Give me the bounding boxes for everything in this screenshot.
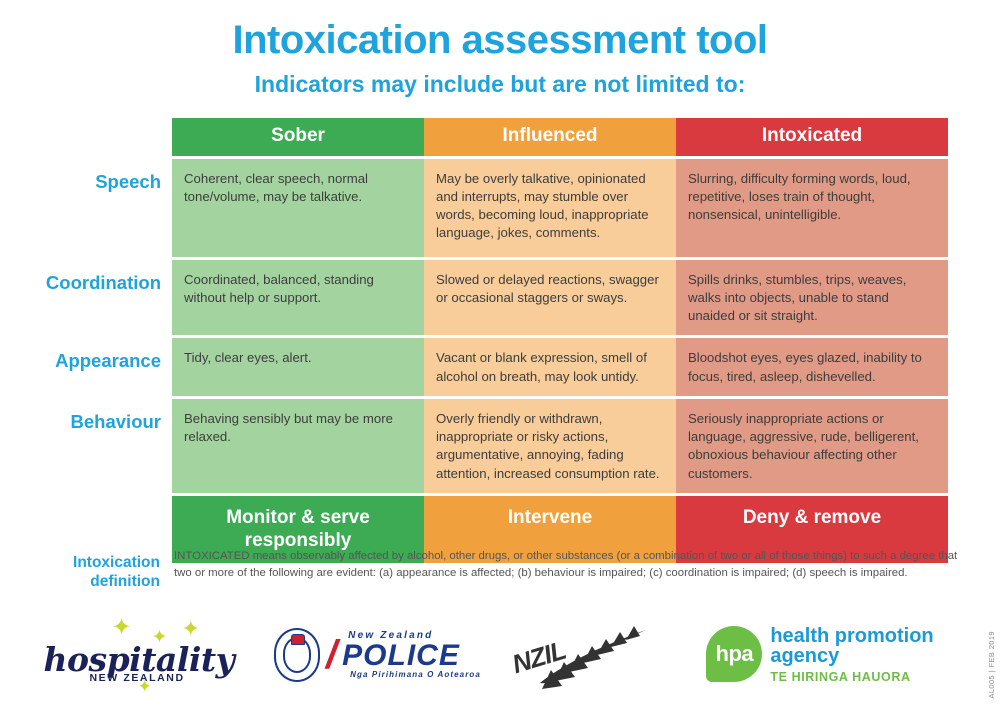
cell-coordination-intoxicated: Spills drinks, stumbles, trips, weaves, … bbox=[676, 260, 948, 336]
row-label-coordination: Coordination bbox=[0, 260, 172, 336]
police-wordmark: POLICE bbox=[342, 641, 481, 671]
police-crest-icon bbox=[274, 628, 320, 682]
header-row-label-spacer bbox=[0, 118, 172, 156]
column-header-sober: Sober bbox=[172, 118, 424, 156]
matrix-row-appearance: Appearance Tidy, clear eyes, alert. Vaca… bbox=[0, 338, 1000, 395]
row-label-behaviour: Behaviour bbox=[0, 399, 172, 493]
police-maori-label: Nga Pirihimana O Aotearoa bbox=[350, 671, 481, 679]
cell-coordination-sober: Coordinated, balanced, standing without … bbox=[172, 260, 424, 336]
hpa-line3: TE HIRINGA HAUORA bbox=[770, 670, 933, 684]
document-code: AL005 | FEB 2019 bbox=[987, 631, 996, 699]
cell-speech-intoxicated: Slurring, difficulty forming words, loud… bbox=[676, 159, 948, 257]
intoxication-matrix: Sober Influenced Intoxicated Speech Cohe… bbox=[0, 118, 1000, 563]
logo-nzil: NZIL bbox=[485, 606, 680, 704]
intoxication-definition: Intoxication definition INTOXICATED mean… bbox=[0, 548, 1000, 592]
logo-health-promotion-agency: hpa health promotion agency TE HIRINGA H… bbox=[680, 606, 960, 704]
definition-label: Intoxication definition bbox=[0, 548, 160, 592]
definition-text: INTOXICATED means observably affected by… bbox=[160, 548, 1000, 592]
matrix-row-speech: Speech Coherent, clear speech, normal to… bbox=[0, 159, 1000, 257]
cell-coordination-influenced: Slowed or delayed reactions, swagger or … bbox=[424, 260, 676, 336]
logo-hospitality-nz: ✦ ✦ ✦ ✦ hospitality NEW ZEALAND bbox=[0, 606, 270, 704]
cell-appearance-influenced: Vacant or blank expression, smell of alc… bbox=[424, 338, 676, 395]
police-slash-icon: / bbox=[326, 635, 337, 675]
hpa-line2: agency bbox=[770, 646, 933, 666]
star-icon: ✦ bbox=[182, 618, 200, 640]
poster-header: Intoxication assessment tool Indicators … bbox=[0, 0, 1000, 97]
cell-speech-influenced: May be overly talkative, opinionated and… bbox=[424, 159, 676, 257]
cell-speech-sober: Coherent, clear speech, normal tone/volu… bbox=[172, 159, 424, 257]
matrix-row-coordination: Coordination Coordinated, balanced, stan… bbox=[0, 260, 1000, 336]
logo-strip: ✦ ✦ ✦ ✦ hospitality NEW ZEALAND / New Ze… bbox=[0, 606, 1000, 704]
logo-nz-police: / New Zealand POLICE Nga Pirihimana O Ao… bbox=[270, 606, 485, 704]
cell-behaviour-influenced: Overly friendly or withdrawn, inappropri… bbox=[424, 399, 676, 493]
row-label-speech: Speech bbox=[0, 159, 172, 257]
cell-appearance-intoxicated: Bloodshot eyes, eyes glazed, inability t… bbox=[676, 338, 948, 395]
hospitality-subtext: NEW ZEALAND bbox=[90, 672, 185, 684]
page-title: Intoxication assessment tool bbox=[0, 18, 1000, 62]
cell-behaviour-sober: Behaving sensibly but may be more relaxe… bbox=[172, 399, 424, 493]
definition-label-line1: Intoxication bbox=[0, 553, 160, 572]
matrix-row-behaviour: Behaviour Behaving sensibly but may be m… bbox=[0, 399, 1000, 493]
cell-appearance-sober: Tidy, clear eyes, alert. bbox=[172, 338, 424, 395]
row-label-appearance: Appearance bbox=[0, 338, 172, 395]
star-icon: ✦ bbox=[112, 616, 132, 640]
definition-label-line2: definition bbox=[0, 572, 160, 591]
cell-behaviour-intoxicated: Seriously inappropriate actions or langu… bbox=[676, 399, 948, 493]
hpa-leaf-icon: hpa bbox=[706, 626, 762, 682]
column-header-intoxicated: Intoxicated bbox=[676, 118, 948, 156]
column-header-influenced: Influenced bbox=[424, 118, 676, 156]
matrix-header-row: Sober Influenced Intoxicated bbox=[0, 118, 1000, 156]
page-subtitle: Indicators may include but are not limit… bbox=[0, 72, 1000, 97]
hpa-line1: health promotion bbox=[770, 626, 933, 646]
hpa-mark: hpa bbox=[706, 641, 762, 667]
